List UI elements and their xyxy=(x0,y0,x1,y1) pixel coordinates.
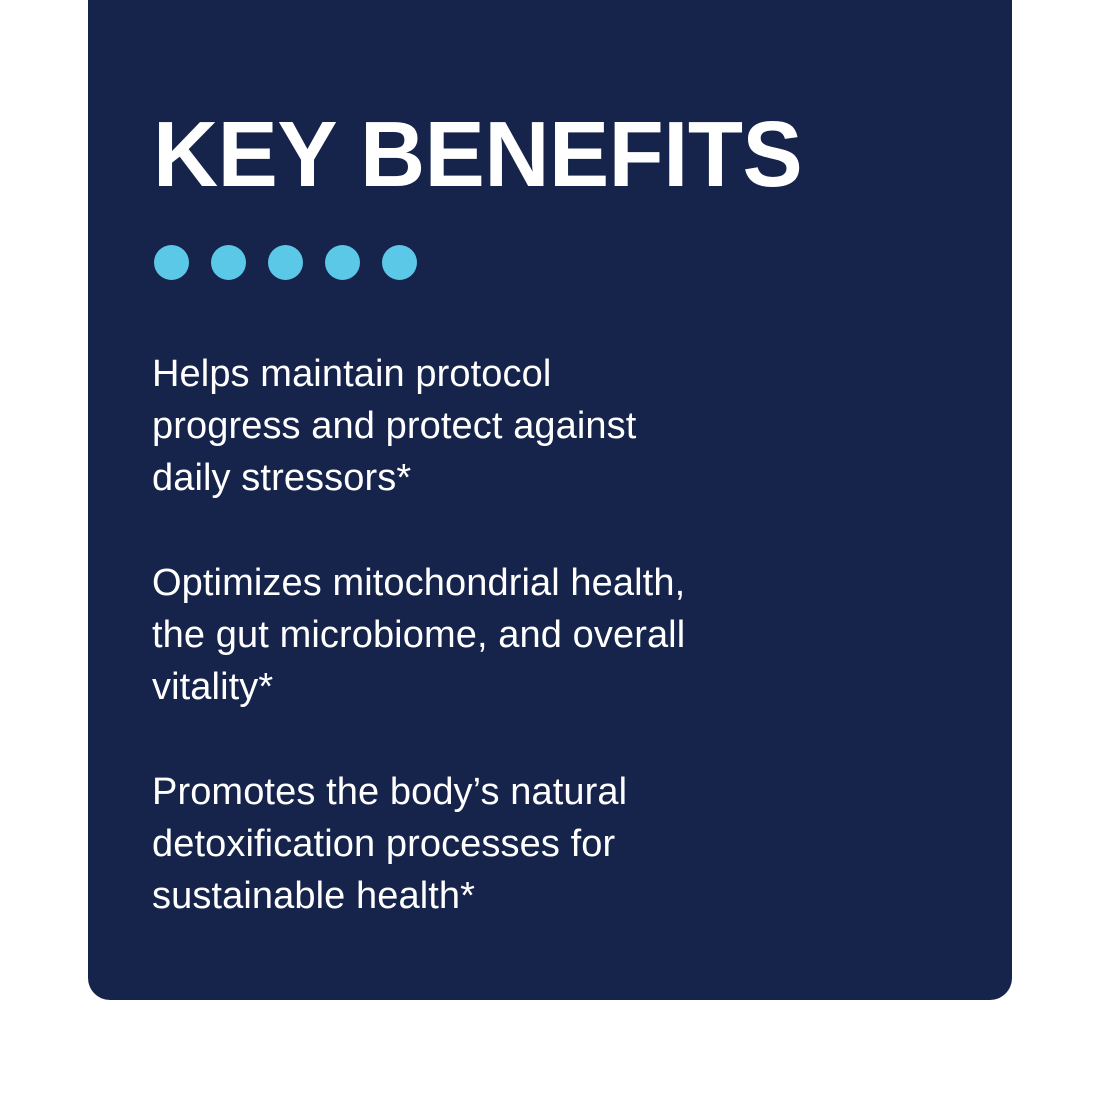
page-title: KEY BENEFITS xyxy=(153,108,948,201)
accent-dot-row xyxy=(154,245,417,280)
accent-dot-icon xyxy=(268,245,303,280)
key-benefits-card: KEY BENEFITS Helps maintain protocol pro… xyxy=(88,0,1012,1000)
accent-dot-icon xyxy=(325,245,360,280)
benefit-item: Promotes the body’s natural detoxificati… xyxy=(152,766,952,922)
accent-dot-icon xyxy=(154,245,189,280)
benefits-list: Helps maintain protocol progress and pro… xyxy=(152,348,952,922)
page-canvas: KEY BENEFITS Helps maintain protocol pro… xyxy=(0,0,1100,1100)
benefit-item: Helps maintain protocol progress and pro… xyxy=(152,348,952,504)
benefit-item: Optimizes mitochondrial health, the gut … xyxy=(152,557,952,713)
accent-dot-icon xyxy=(211,245,246,280)
accent-dot-icon xyxy=(382,245,417,280)
